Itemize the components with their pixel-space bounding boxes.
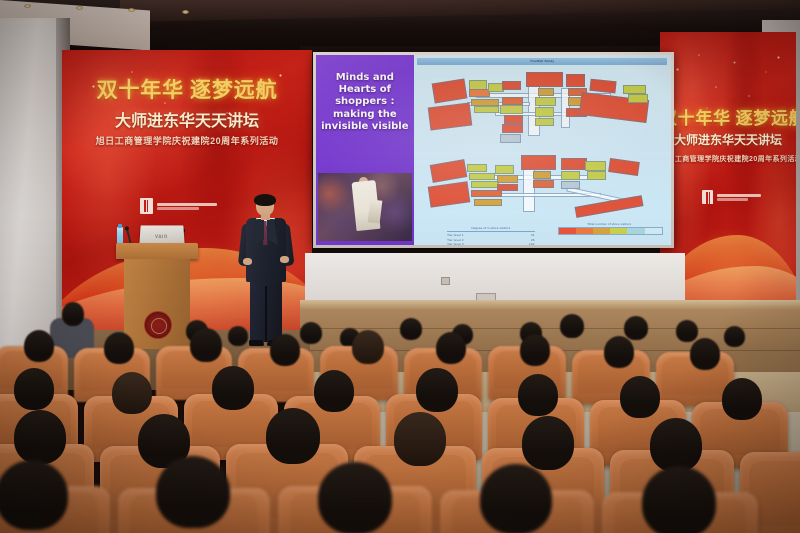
audience-head: [520, 334, 550, 366]
logo-wordmark: [157, 203, 217, 210]
audience-head: [266, 408, 320, 464]
audience-head: [642, 466, 716, 533]
audience-head: [14, 368, 54, 410]
laptop-brand-label: VAIO: [155, 234, 168, 239]
downlight-icon: [182, 10, 189, 14]
row-label: Tier level 3: [447, 242, 464, 245]
audience-head: [190, 328, 222, 362]
banner-right-logo: [702, 190, 761, 204]
mall-floor-plan-level-2: [424, 154, 661, 226]
audience-head: [480, 464, 552, 533]
slide-data-table: Degree of in-store visitors Tier level 1…: [447, 226, 535, 245]
slide-topbar: Footfall Study: [417, 58, 667, 66]
audience-head: [394, 412, 446, 466]
audience-head: [560, 314, 584, 338]
downlight-icon: [24, 4, 31, 8]
projected-slide: Minds and Hearts of shoppers : making th…: [316, 55, 671, 245]
downlight-icon: [128, 8, 135, 12]
slide-title: Minds and Hearts of shoppers : making th…: [320, 72, 410, 133]
auditorium-photo: 双十年华 逐梦远航 大师进东华天天讲坛 旭日工商管理学院庆祝建院20周年系列活动…: [0, 0, 800, 533]
audience-head: [436, 332, 466, 364]
banner-left-headline: 双十年华 逐梦远航: [62, 74, 312, 104]
downlight-icon: [76, 6, 83, 10]
audience-head: [270, 334, 300, 366]
book-logo-icon: [140, 198, 153, 214]
banner-right-headline: 双十年华 逐梦远航: [660, 104, 796, 129]
audience-head: [314, 370, 354, 412]
banner-left-logo: [140, 198, 217, 214]
banner-left-subhead: 大师进东华天天讲坛: [62, 107, 312, 131]
logo-wordmark: [717, 194, 761, 201]
slide-topbar-label: Footfall Study: [417, 58, 667, 65]
audience-head: [518, 374, 558, 416]
audience-head: [104, 332, 134, 364]
slide-legend: Total number of store visitors: [558, 222, 661, 235]
audience-head: [650, 418, 702, 472]
slide-title-panel: Minds and Hearts of shoppers : making th…: [316, 55, 414, 245]
audience-head: [212, 366, 254, 410]
power-outlet: [441, 277, 450, 285]
audience-head: [156, 456, 230, 528]
projection-screen: Minds and Hearts of shoppers : making th…: [313, 52, 674, 248]
lectern-top: [116, 243, 198, 259]
audience-head: [620, 376, 660, 418]
audience-head: [352, 330, 384, 364]
legend-title: Total number of store visitors: [558, 222, 661, 226]
slide-photo: [318, 173, 412, 241]
row-value: 102: [529, 242, 535, 245]
banner-left-caption: 旭日工商管理学院庆祝建院20周年系列活动: [62, 134, 312, 147]
book-logo-icon: [702, 190, 713, 204]
audience-head: [0, 460, 68, 530]
audience-head: [604, 336, 634, 368]
audience-head: [24, 330, 54, 362]
presenter-hand: [280, 256, 289, 263]
legend-colorbar: [558, 227, 663, 235]
audience-head: [318, 462, 392, 533]
audience-head: [14, 410, 66, 464]
table-header: Degree of in-store visitors: [447, 226, 535, 232]
mall-floor-plan-level-1: [424, 70, 661, 150]
audience-row-front: [0, 468, 800, 533]
slide-content-panel: Footfall Study: [414, 55, 671, 245]
audience-head: [112, 372, 152, 414]
presenter-hand: [243, 258, 252, 265]
audience-head: [522, 416, 574, 470]
audience-head: [416, 368, 458, 412]
audience-head: [722, 378, 762, 420]
banner-right-caption: 旭日工商管理学院庆祝建院20周年系列活动: [660, 154, 796, 164]
audience-head: [62, 302, 84, 326]
banner-right-subhead: 大师进东华天天讲坛: [660, 131, 796, 148]
audience-head: [690, 338, 720, 370]
table-row: Tier level 3 102: [447, 242, 535, 245]
